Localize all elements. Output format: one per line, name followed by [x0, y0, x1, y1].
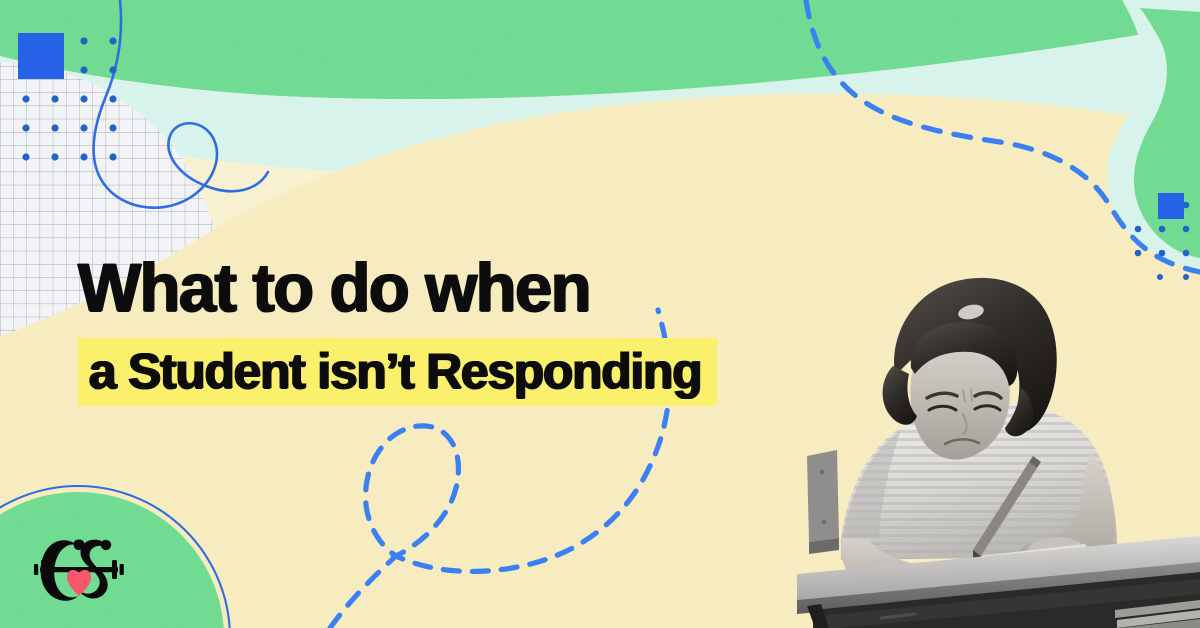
headline-highlight-band: a Student isn’t Responding: [78, 338, 717, 406]
cs-monogram-logo[interactable]: [26, 528, 132, 614]
chair: [807, 450, 839, 554]
student-writing-photo: [785, 238, 1200, 628]
headline-line-1: What to do when: [78, 250, 815, 326]
headline-block: What to do when a Student isn’t Respondi…: [78, 250, 838, 406]
heart-icon: [67, 570, 91, 596]
headline-line-2: a Student isn’t Responding: [89, 345, 701, 397]
banner-canvas: What to do when a Student isn’t Respondi…: [0, 0, 1200, 628]
